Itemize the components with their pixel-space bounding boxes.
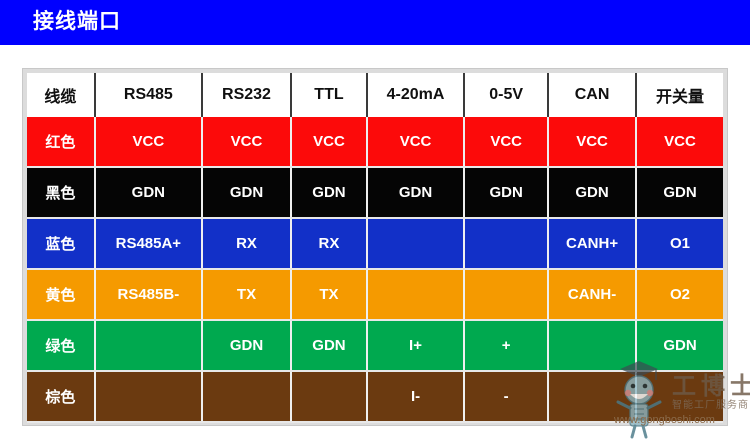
cell-1-3: GDN <box>291 167 367 218</box>
column-header-5: 0-5V <box>464 73 548 117</box>
cable-color-label: 蓝色 <box>27 218 95 269</box>
cell-5-2 <box>202 371 291 422</box>
cell-2-7: O1 <box>636 218 723 269</box>
cell-1-6: GDN <box>548 167 636 218</box>
table-row: 棕色I-- <box>27 371 723 422</box>
cell-1-5: GDN <box>464 167 548 218</box>
column-header-7: 开关量 <box>636 73 723 117</box>
cell-2-1: RS485A+ <box>95 218 202 269</box>
cell-3-4 <box>367 269 464 320</box>
table-row: 红色VCCVCCVCCVCCVCCVCCVCC <box>27 117 723 167</box>
cell-2-4 <box>367 218 464 269</box>
cell-4-3: GDN <box>291 320 367 371</box>
table-header-row: 线缆RS485RS232TTL4-20mA0-5VCAN开关量 <box>27 73 723 117</box>
cell-3-1: RS485B- <box>95 269 202 320</box>
cell-0-2: VCC <box>202 117 291 167</box>
column-header-6: CAN <box>548 73 636 117</box>
cell-4-1 <box>95 320 202 371</box>
cell-3-6: CANH- <box>548 269 636 320</box>
page-title: 接线端口 <box>33 9 121 35</box>
cell-5-6 <box>548 371 636 422</box>
cable-color-label: 红色 <box>27 117 95 167</box>
cable-color-label: 绿色 <box>27 320 95 371</box>
table-row: 黄色RS485B-TXTXCANH-O2 <box>27 269 723 320</box>
column-header-3: TTL <box>291 73 367 117</box>
cable-color-label: 黄色 <box>27 269 95 320</box>
cell-1-7: GDN <box>636 167 723 218</box>
cell-0-6: VCC <box>548 117 636 167</box>
cell-4-2: GDN <box>202 320 291 371</box>
table-row: 黑色GDNGDNGDNGDNGDNGDNGDN <box>27 167 723 218</box>
cell-0-5: VCC <box>464 117 548 167</box>
cell-1-4: GDN <box>367 167 464 218</box>
wiring-port-table: 线缆RS485RS232TTL4-20mA0-5VCAN开关量红色VCCVCCV… <box>27 73 723 423</box>
cell-5-4: I- <box>367 371 464 422</box>
cell-4-5: + <box>464 320 548 371</box>
cell-0-4: VCC <box>367 117 464 167</box>
cell-5-7 <box>636 371 723 422</box>
column-header-1: RS485 <box>95 73 202 117</box>
cell-2-3: RX <box>291 218 367 269</box>
cable-color-label: 棕色 <box>27 371 95 422</box>
cable-color-label: 黑色 <box>27 167 95 218</box>
cell-1-2: GDN <box>202 167 291 218</box>
cell-2-5 <box>464 218 548 269</box>
cell-5-1 <box>95 371 202 422</box>
cell-1-1: GDN <box>95 167 202 218</box>
column-header-0: 线缆 <box>27 73 95 117</box>
column-header-2: RS232 <box>202 73 291 117</box>
cell-2-2: RX <box>202 218 291 269</box>
cell-4-7: GDN <box>636 320 723 371</box>
page-header-bar: 接线端口 <box>0 0 750 45</box>
cell-0-7: VCC <box>636 117 723 167</box>
cell-4-6 <box>548 320 636 371</box>
cell-3-2: TX <box>202 269 291 320</box>
cell-5-3 <box>291 371 367 422</box>
cell-2-6: CANH+ <box>548 218 636 269</box>
cell-3-3: TX <box>291 269 367 320</box>
cell-5-5: - <box>464 371 548 422</box>
wiring-table-frame: 线缆RS485RS232TTL4-20mA0-5VCAN开关量红色VCCVCCV… <box>22 68 728 426</box>
table-row: 蓝色RS485A+RXRXCANH+O1 <box>27 218 723 269</box>
column-header-4: 4-20mA <box>367 73 464 117</box>
cell-3-7: O2 <box>636 269 723 320</box>
cell-4-4: I+ <box>367 320 464 371</box>
table-row: 绿色GDNGDNI++GDN <box>27 320 723 371</box>
cell-3-5 <box>464 269 548 320</box>
cell-0-1: VCC <box>95 117 202 167</box>
cell-0-3: VCC <box>291 117 367 167</box>
